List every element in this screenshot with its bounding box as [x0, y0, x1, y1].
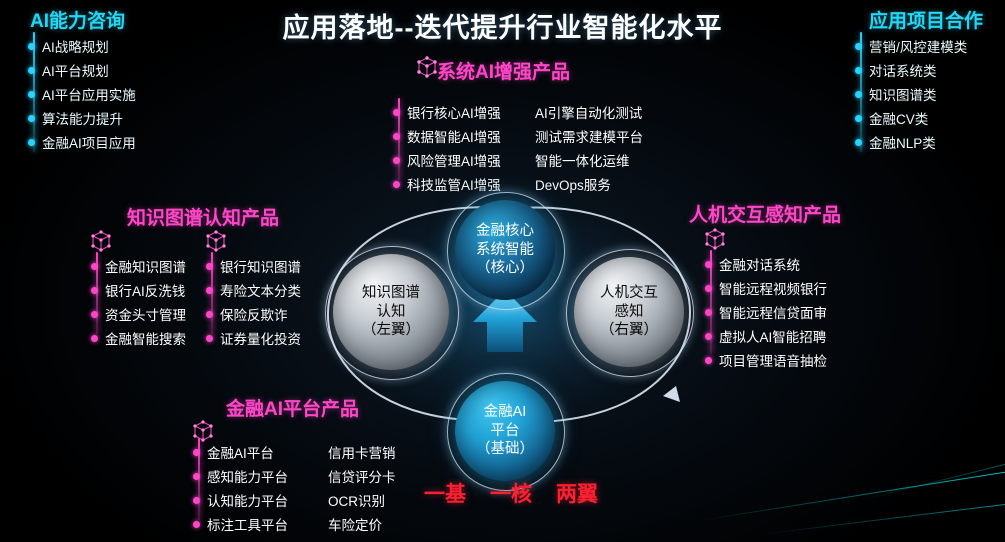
left-line-2: 认知	[362, 303, 420, 322]
list-item: 虚拟人AI智能招聘	[705, 324, 827, 348]
footer-tag-core: 一核	[490, 478, 532, 508]
bullet-dot-icon	[855, 67, 862, 74]
list-item: 测试需求建模平台	[535, 124, 643, 148]
bullet-dot-icon	[206, 311, 213, 318]
list-item: 信贷评分卡	[328, 464, 396, 488]
right-line-1: 人机交互	[600, 284, 658, 303]
bullet-dot-icon	[28, 91, 35, 98]
list-item: DevOps服务	[535, 172, 643, 196]
right-line-2: 感知	[600, 303, 658, 322]
bullet-dot-icon	[193, 473, 200, 480]
node-platform-sphere[interactable]: 金融AI 平台 （基础）	[455, 381, 555, 481]
list-item: 数据智能AI增强	[393, 124, 501, 148]
bullet-dot-icon	[393, 109, 400, 116]
list-item: 标注工具平台	[193, 512, 288, 536]
bullet-dot-icon	[28, 67, 35, 74]
bullet-dot-icon	[705, 261, 712, 268]
left-line-1: 知识图谱	[362, 284, 420, 303]
left-line-3: （左翼）	[362, 321, 420, 340]
decor-streak	[700, 470, 1005, 521]
list-item: 金融AI平台	[193, 440, 288, 464]
bullet-dot-icon	[393, 181, 400, 188]
bullet-dot-icon	[206, 263, 213, 270]
network-node-icon	[203, 228, 229, 254]
bullet-dot-icon	[91, 287, 98, 294]
bullet-dot-icon	[28, 115, 35, 122]
bottom-line-2: 平台	[476, 422, 534, 441]
bullet-dot-icon	[91, 263, 98, 270]
bullet-dot-icon	[28, 43, 35, 50]
bullet-dot-icon	[193, 497, 200, 504]
list-item: AI平台规划	[28, 58, 136, 82]
bullet-dot-icon	[855, 139, 862, 146]
list-item: 保险反欺诈	[206, 302, 301, 326]
bullet-dot-icon	[705, 333, 712, 340]
list-item: 智能远程视频银行	[705, 276, 827, 300]
footer-tag-base: 一基	[424, 478, 466, 508]
diagram-canvas: 应用落地--迭代提升行业智能化水平 AI能力咨询 AI战略规划 AI平台规划 A…	[0, 0, 1005, 542]
list-item: 证券量化投资	[206, 326, 301, 350]
list-item: 智能远程信贷面审	[705, 300, 827, 324]
right-line-3: （右翼）	[600, 321, 658, 340]
bottom-line-1: 金融AI	[476, 403, 534, 422]
list-system-ai-col1: 银行核心AI增强 数据智能AI增强 风险管理AI增强 科技监管AI增强	[393, 100, 501, 196]
list-platform-col1: 金融AI平台 感知能力平台 认知能力平台 标注工具平台	[193, 440, 288, 536]
list-item: 项目管理语音抽检	[705, 348, 827, 372]
decor-streak	[860, 459, 1005, 501]
list-item: 金融NLP类	[855, 130, 967, 154]
list-item: 科技监管AI增强	[393, 172, 501, 196]
bullet-dot-icon	[393, 133, 400, 140]
group-title-knowledge-graph: 知识图谱认知产品	[127, 203, 279, 230]
list-item: 车险定价	[328, 512, 396, 536]
list-item: 银行知识图谱	[206, 254, 301, 278]
bullet-dot-icon	[705, 309, 712, 316]
decor-streak	[760, 502, 1005, 535]
list-item: 智能一体化运维	[535, 148, 643, 172]
footer-tag-wings: 两翼	[556, 478, 598, 508]
bullet-dot-icon	[705, 285, 712, 292]
list-item: 信用卡营销	[328, 440, 396, 464]
list-item: 认知能力平台	[193, 488, 288, 512]
bullet-dot-icon	[855, 115, 862, 122]
bullet-dot-icon	[855, 43, 862, 50]
list-item: 金融CV类	[855, 106, 967, 130]
bullet-dot-icon	[193, 521, 200, 528]
network-node-icon	[702, 226, 728, 252]
bullet-dot-icon	[705, 357, 712, 364]
list-item: 算法能力提升	[28, 106, 136, 130]
list-item: 感知能力平台	[193, 464, 288, 488]
list-item: 风险管理AI增强	[393, 148, 501, 172]
list-item: 银行AI反洗钱	[91, 278, 186, 302]
node-core-sphere[interactable]: 金融核心 系统智能 （核心）	[455, 200, 555, 300]
bullet-dot-icon	[28, 139, 35, 146]
bullet-dot-icon	[206, 335, 213, 342]
group-title-interaction: 人机交互感知产品	[689, 200, 841, 227]
node-left-sphere[interactable]: 知识图谱 认知 （左翼）	[333, 254, 449, 370]
list-item: 金融智能搜索	[91, 326, 186, 350]
core-line-2: 系统智能	[476, 241, 534, 260]
bullet-dot-icon	[91, 335, 98, 342]
list-item: AI战略规划	[28, 34, 136, 58]
bottom-line-3: （基础）	[476, 440, 534, 459]
list-item: 营销/风控建模类	[855, 34, 967, 58]
list-item: 金融对话系统	[705, 252, 827, 276]
group-title-ai-consulting: AI能力咨询	[30, 6, 125, 33]
list-system-ai-col2: AI引擎自动化测试 测试需求建模平台 智能一体化运维 DevOps服务	[535, 100, 643, 196]
list-item: AI引擎自动化测试	[535, 100, 643, 124]
list-item: 资金头寸管理	[91, 302, 186, 326]
list-item: 对话系统类	[855, 58, 967, 82]
bullet-dot-icon	[393, 157, 400, 164]
list-platform-col2: 信用卡营销 信贷评分卡 OCR识别 车险定价	[328, 440, 396, 536]
list-project-cooperation: 营销/风控建模类 对话系统类 知识图谱类 金融CV类 金融NLP类	[855, 34, 967, 154]
network-node-icon	[88, 228, 114, 254]
list-item: 金融知识图谱	[91, 254, 186, 278]
list-item: 银行核心AI增强	[393, 100, 501, 124]
node-right-sphere[interactable]: 人机交互 感知 （右翼）	[574, 257, 684, 367]
list-knowledge-graph-col2: 银行知识图谱 寿险文本分类 保险反欺诈 证券量化投资	[206, 254, 301, 350]
bullet-dot-icon	[193, 449, 200, 456]
core-line-1: 金融核心	[476, 222, 534, 241]
bullet-dot-icon	[91, 311, 98, 318]
group-title-system-ai: 系统AI增强产品	[437, 57, 570, 84]
bullet-dot-icon	[206, 287, 213, 294]
list-item: AI平台应用实施	[28, 82, 136, 106]
group-title-project-cooperation: 应用项目合作	[869, 6, 983, 33]
bullet-dot-icon	[855, 91, 862, 98]
list-item: OCR识别	[328, 488, 396, 512]
list-knowledge-graph-col1: 金融知识图谱 银行AI反洗钱 资金头寸管理 金融智能搜索	[91, 254, 186, 350]
list-item: 寿险文本分类	[206, 278, 301, 302]
list-ai-consulting: AI战略规划 AI平台规划 AI平台应用实施 算法能力提升 金融AI项目应用	[28, 34, 136, 154]
list-interaction: 金融对话系统 智能远程视频银行 智能远程信贷面审 虚拟人AI智能招聘 项目管理语…	[705, 252, 827, 372]
core-line-3: （核心）	[476, 259, 534, 278]
list-item: 金融AI项目应用	[28, 130, 136, 154]
list-item: 知识图谱类	[855, 82, 967, 106]
group-title-platform: 金融AI平台产品	[226, 394, 359, 421]
